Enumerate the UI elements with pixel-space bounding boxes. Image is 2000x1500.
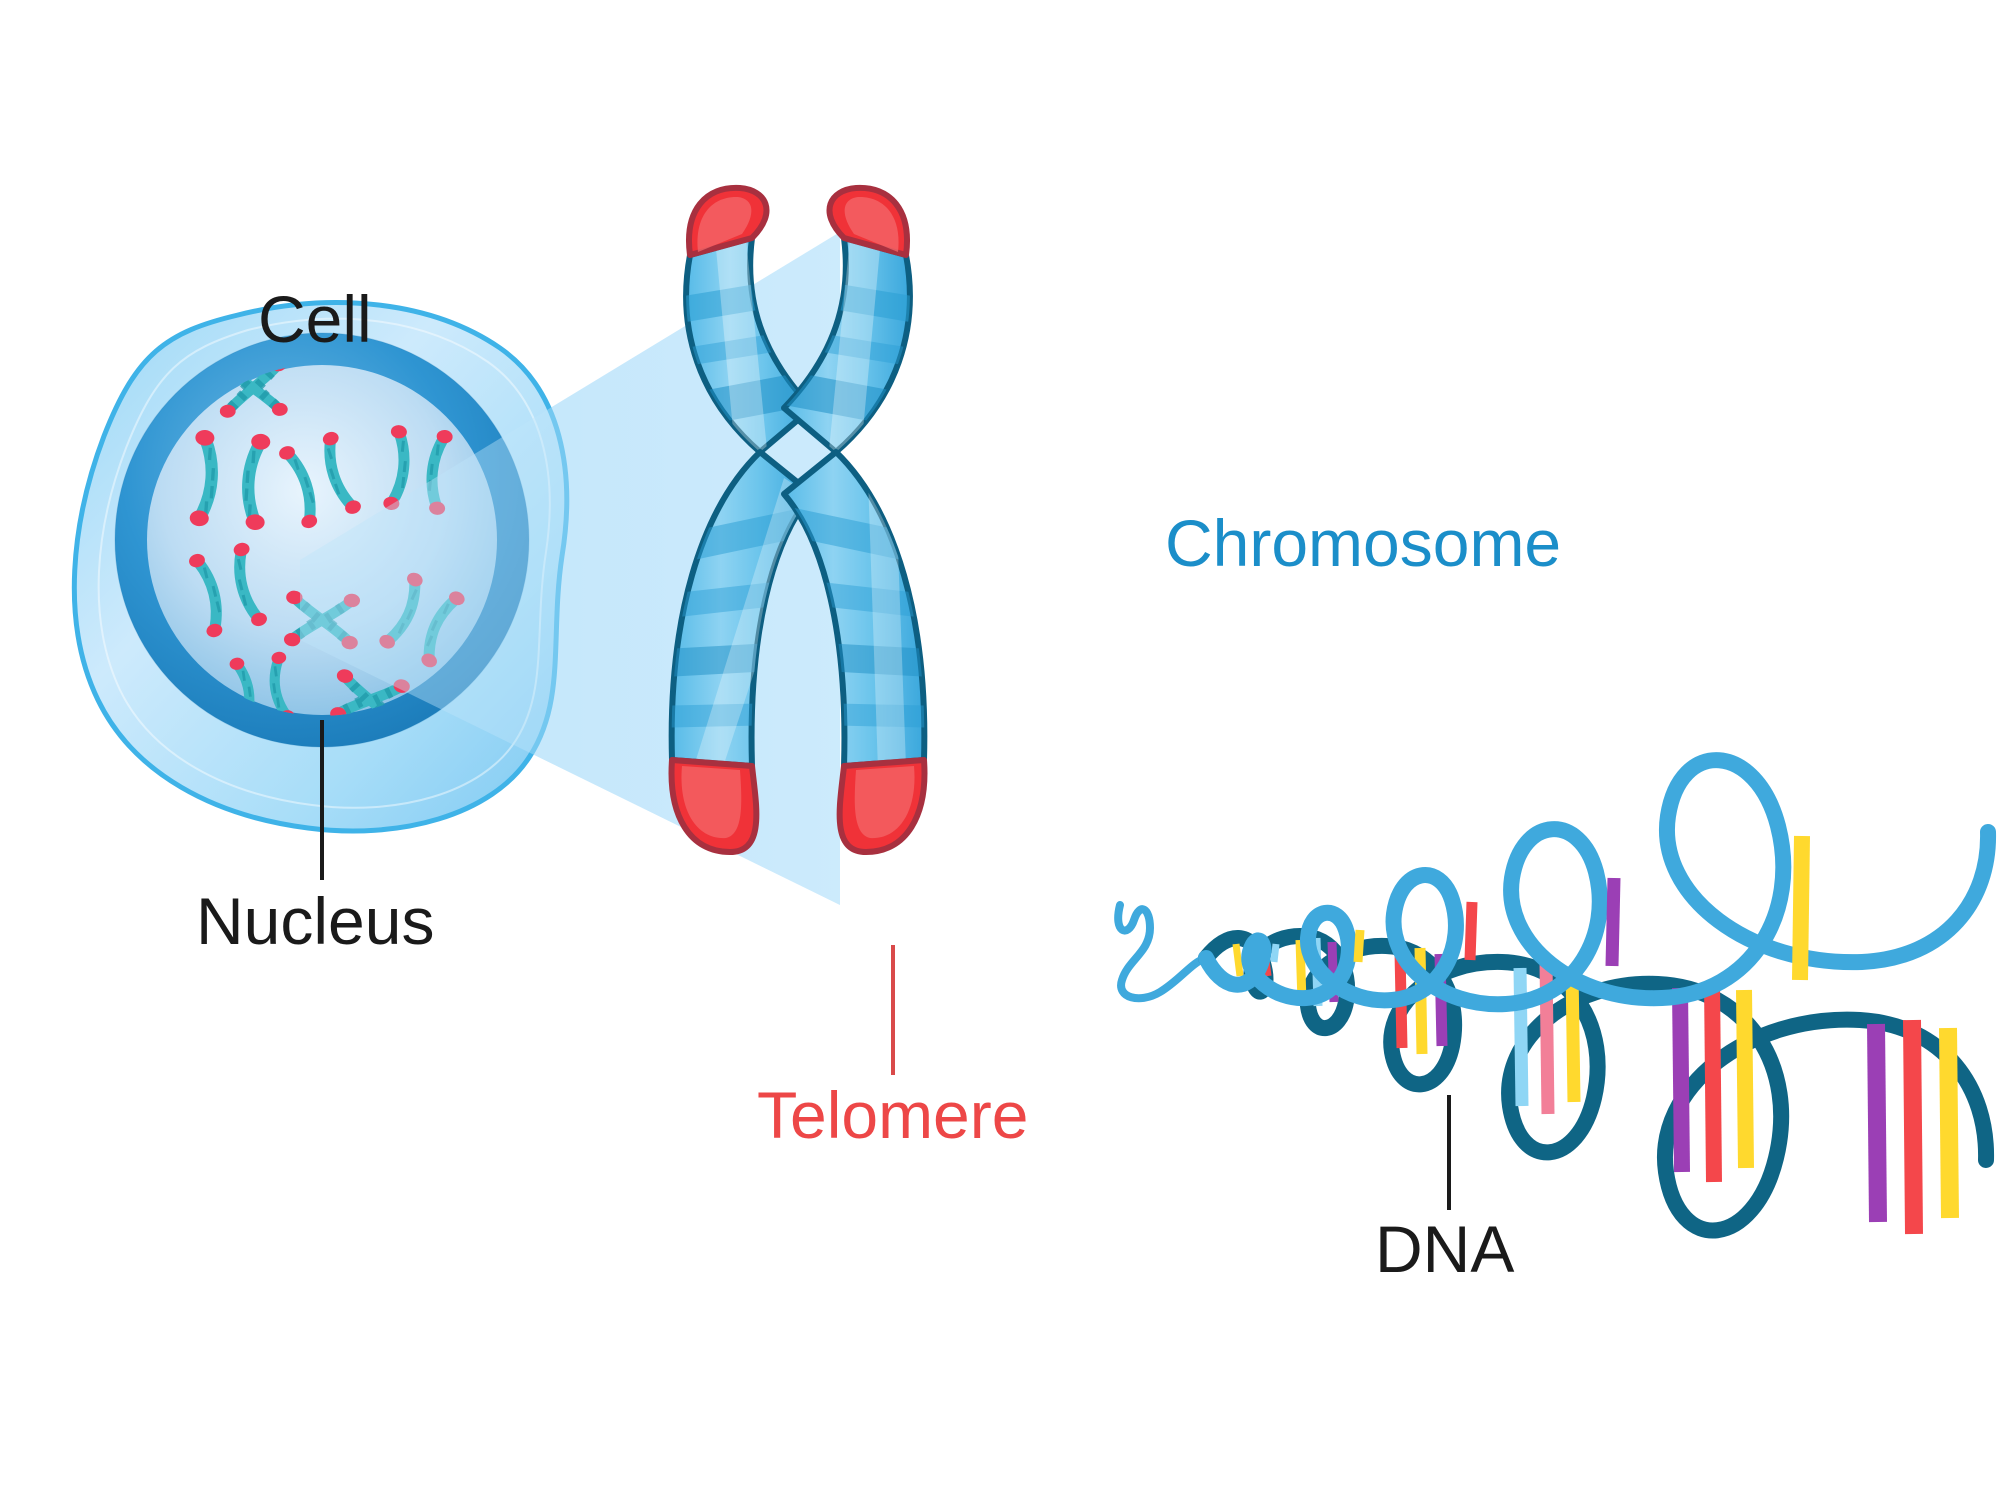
label-telomere: Telomere [757,1082,1028,1148]
label-chromosome: Chromosome [1165,510,1561,576]
telomere-cap-bottom-right [840,760,925,852]
label-nucleus: Nucleus [196,888,434,954]
label-cell: Cell [258,286,372,352]
telomere-cap-top-right [829,188,906,255]
dna-helix-strands [1206,760,1988,1234]
label-dna: DNA [1375,1216,1514,1282]
dna-double-helix [1118,760,1988,1234]
diagram-canvas: Cell Nucleus Chromosome Telomere DNA [0,0,2000,1500]
telomere-cap-bottom-left [672,760,757,852]
telomere-cap-top-left [689,188,766,255]
diagram-artwork [0,0,2000,1500]
